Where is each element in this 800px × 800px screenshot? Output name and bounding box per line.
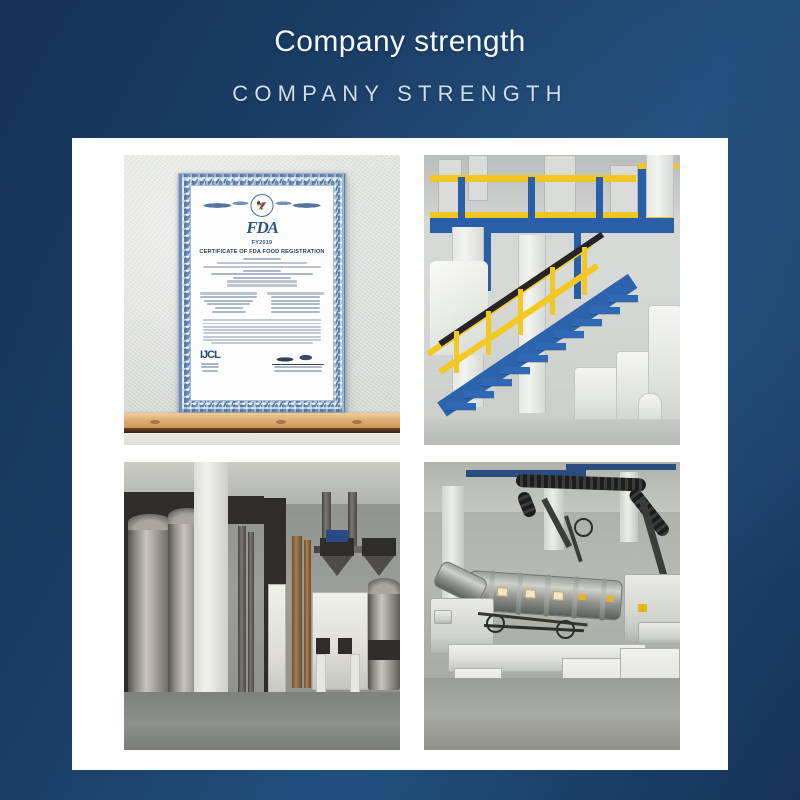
wood-knot — [150, 420, 160, 424]
certificate-ribbon: 🦅 — [198, 193, 326, 217]
text-line — [203, 339, 321, 341]
stair-step — [590, 307, 620, 314]
rail-spindle — [550, 267, 555, 315]
stair-step — [536, 343, 566, 350]
slide-root: Company strength COMPANY STRENGTH 🦅 — [0, 0, 800, 800]
barrel-nameplate — [497, 587, 509, 597]
ribbon-left-swirl — [203, 200, 251, 211]
secondary-tank — [368, 588, 400, 690]
text-line — [203, 326, 321, 328]
hopper — [362, 554, 396, 576]
wooden-ledge — [124, 413, 400, 433]
issuer-logo: IJCL — [200, 350, 220, 361]
duct — [610, 165, 638, 213]
stair-step — [518, 355, 548, 362]
text-line — [217, 262, 307, 264]
text-line — [274, 366, 322, 368]
table-column-right — [265, 291, 327, 315]
valve-handwheel-icon — [556, 620, 575, 639]
text-line — [202, 370, 218, 372]
equipment-panel — [368, 640, 400, 660]
stair-step — [464, 391, 494, 398]
gallery-item-extruder-line[interactable] — [424, 462, 680, 750]
text-line — [201, 363, 219, 365]
table-header — [267, 292, 324, 294]
control-panel — [434, 610, 452, 624]
storage-tank — [128, 524, 172, 704]
floor-area — [424, 678, 680, 750]
gallery-item-stainless-tanks[interactable] — [124, 462, 400, 750]
cutter-housing — [638, 622, 680, 644]
ribbon-right-swirl — [273, 200, 321, 211]
certificate-body: 🦅 FDA FY2019 CERTIFICATE OF FDA FOOD REG… — [190, 185, 334, 401]
certificate-title: CERTIFICATE OF FDA FOOD REGISTRATION — [198, 249, 326, 255]
stair-step — [572, 319, 602, 326]
wood-knot — [352, 420, 362, 424]
rail-post — [458, 177, 465, 219]
rail-post — [638, 163, 646, 219]
text-line — [203, 336, 321, 338]
stair-step — [500, 367, 530, 374]
page-subtitle: COMPANY STRENGTH — [0, 79, 800, 109]
gallery-card: 🦅 FDA FY2019 CERTIFICATE OF FDA FOOD REG… — [72, 138, 728, 770]
barrel-nameplate — [525, 589, 537, 599]
table-cell — [215, 307, 243, 309]
text-line — [203, 332, 321, 334]
certificate-legal-paragraph — [198, 319, 326, 344]
table-cell — [271, 303, 320, 305]
certificate-recipient-lines — [198, 258, 326, 287]
text-line — [243, 258, 281, 260]
text-line — [201, 366, 219, 368]
page-title: Company strength — [0, 22, 800, 62]
handwheel-icon — [574, 518, 593, 537]
cabinet-display — [316, 638, 330, 654]
text-line — [211, 342, 313, 344]
table-cell — [200, 296, 257, 298]
signature-rule — [272, 364, 324, 365]
barrel-clamp — [543, 574, 551, 616]
gallery-item-factory-staircase[interactable] — [424, 155, 680, 445]
vertical-pipe — [248, 532, 254, 692]
header: Company strength COMPANY STRENGTH — [0, 0, 800, 109]
stair-step — [608, 295, 638, 302]
text-line — [203, 266, 321, 268]
stair-step — [554, 331, 584, 338]
table-cell — [271, 300, 320, 302]
cabinet-display — [338, 638, 352, 654]
floor-area — [124, 692, 400, 750]
eagle-icon: 🦅 — [256, 201, 267, 210]
table-cell — [271, 296, 320, 298]
duct — [544, 155, 576, 217]
rail-spindle — [486, 311, 491, 355]
text-line — [203, 329, 321, 331]
text-line — [243, 270, 281, 272]
table-column-left — [198, 291, 260, 315]
warning-label-icon — [579, 594, 586, 600]
concrete-pillar — [194, 462, 228, 710]
certificate-product-table — [198, 291, 326, 315]
table-cell — [212, 311, 246, 313]
blue-motor — [326, 530, 348, 542]
warning-label-icon — [607, 596, 614, 602]
wood-knot — [276, 420, 286, 424]
table-cell — [207, 303, 250, 305]
text-line — [227, 284, 297, 286]
table-cell — [271, 307, 320, 309]
hopper-body — [362, 538, 396, 556]
fda-seal-icon: 🦅 — [251, 194, 274, 217]
overhead-beam — [228, 496, 264, 524]
overhead-beam — [566, 464, 676, 470]
text-line — [203, 323, 321, 325]
fda-wordmark: FDA — [198, 219, 326, 236]
stair-step — [482, 379, 512, 386]
copper-pipe — [292, 536, 302, 688]
hopper — [320, 554, 354, 576]
photo-grid: 🦅 FDA FY2019 CERTIFICATE OF FDA FOOD REG… — [124, 155, 704, 750]
floor-area — [124, 433, 400, 445]
barrel-clamp — [515, 572, 523, 614]
text-line — [203, 319, 321, 321]
table-cell — [271, 311, 320, 313]
rail-spindle — [582, 247, 587, 295]
signature-block — [272, 354, 324, 374]
warning-label-icon — [638, 604, 647, 612]
table-cell — [204, 300, 253, 302]
rail-post — [528, 177, 535, 219]
support-column — [574, 233, 581, 299]
barrel-nameplate — [553, 591, 565, 601]
text-line — [233, 277, 291, 279]
certificate-frame: 🦅 FDA FY2019 CERTIFICATE OF FDA FOOD REG… — [178, 173, 346, 413]
elevator-access-panel — [268, 584, 286, 700]
issuer-block: IJCL — [200, 350, 220, 373]
text-line — [274, 370, 322, 372]
text-line — [211, 273, 313, 275]
certificate-footer: IJCL — [198, 350, 326, 373]
table-header — [200, 292, 257, 294]
text-line — [227, 280, 297, 282]
rail-spindle — [518, 289, 523, 335]
vertical-pipe — [238, 526, 246, 696]
floor-area — [424, 419, 680, 445]
gallery-item-fda-certificate[interactable]: 🦅 FDA FY2019 CERTIFICATE OF FDA FOOD REG… — [124, 155, 400, 445]
rail-spindle — [454, 331, 459, 373]
concrete-column — [646, 155, 674, 217]
signature-icon — [272, 354, 324, 363]
copper-pipe — [304, 540, 311, 688]
certificate-fiscal-year: FY2019 — [198, 240, 326, 246]
rail-post — [596, 177, 603, 219]
valve-handwheel-icon — [486, 614, 505, 633]
stair-step — [446, 403, 476, 410]
